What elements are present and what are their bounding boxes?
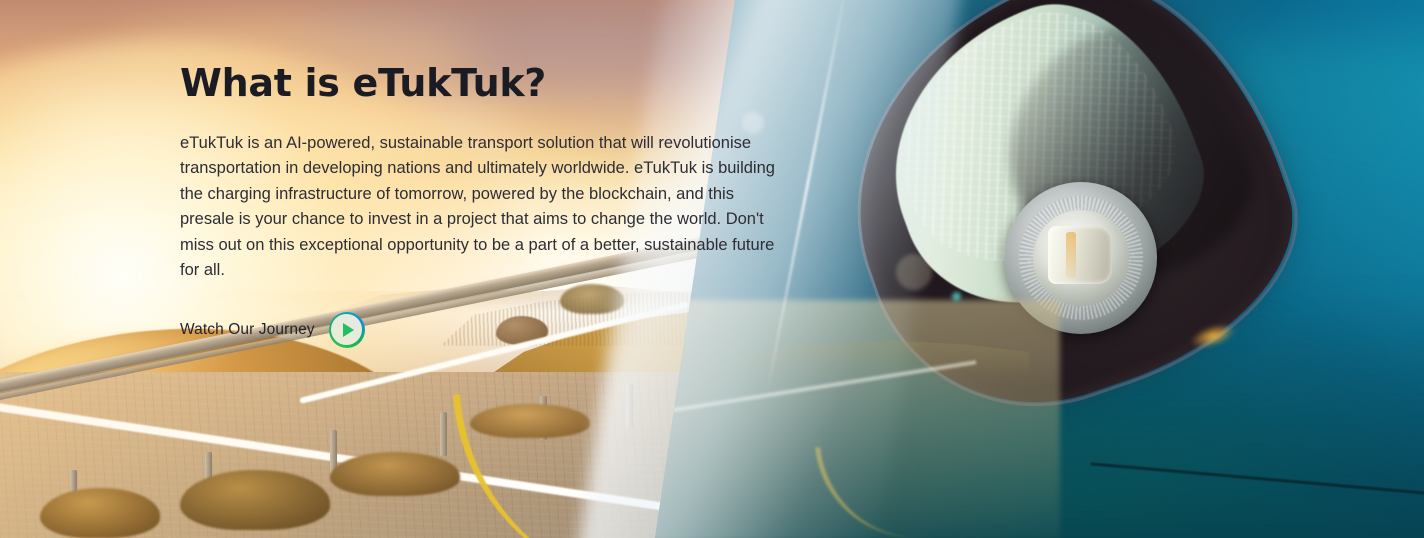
lens-flare-dot [896, 254, 932, 290]
lens-flare-dot [952, 292, 961, 301]
hero-description: eTukTuk is an AI-powered, sustainable tr… [180, 131, 786, 284]
play-icon[interactable] [329, 312, 365, 348]
guardrail-post [440, 412, 447, 456]
page-title: What is eTukTuk? [180, 62, 800, 105]
roadside-shrub [330, 452, 460, 496]
play-triangle [343, 323, 354, 337]
roadside-shrub [180, 470, 330, 530]
watch-our-journey-link[interactable]: Watch Our Journey [180, 312, 365, 348]
what-is-etuktuk-hero-section: What is eTukTuk? eTukTuk is an AI-powere… [0, 0, 1424, 538]
roadside-shrub [470, 404, 590, 438]
hero-content: What is eTukTuk? eTukTuk is an AI-powere… [180, 62, 800, 348]
roadside-shrub [40, 488, 160, 538]
watch-our-journey-label: Watch Our Journey [180, 321, 315, 339]
projector-bulb [1048, 226, 1112, 284]
